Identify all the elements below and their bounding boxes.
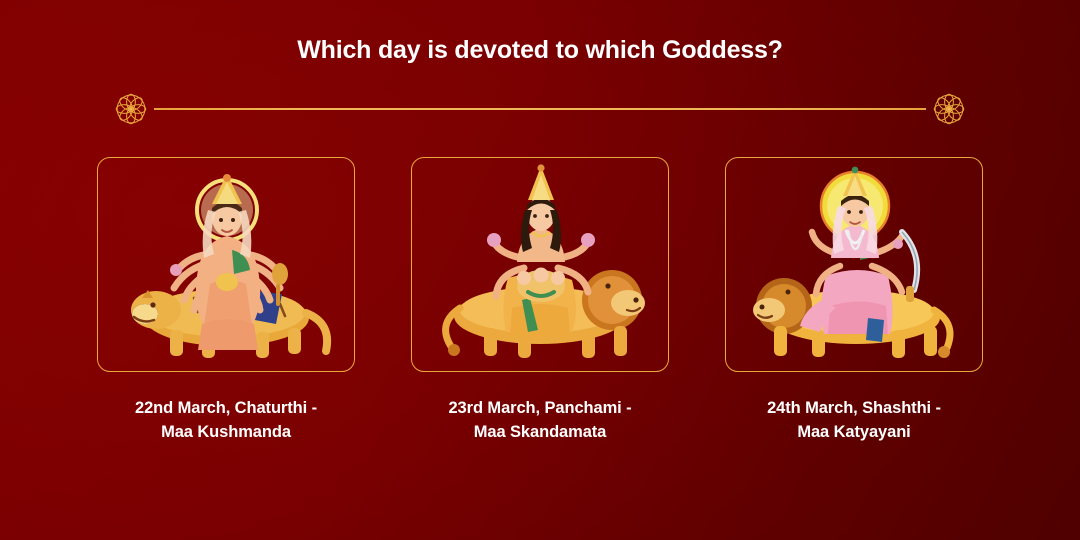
caption-line-2: Maa Skandamata	[474, 423, 607, 441]
goddess-image-frame	[97, 157, 355, 372]
goddess-image-frame	[411, 157, 669, 372]
goddess-card-row: 22nd March, Chaturthi - Maa Kushmanda	[0, 157, 1080, 445]
goddess-card[interactable]: 24th March, Shashthi - Maa Katyayani	[725, 157, 983, 445]
divider-line	[154, 108, 926, 110]
rosette-mandala-icon	[928, 88, 970, 130]
caption-line-1: 23rd March, Panchami -	[448, 399, 631, 417]
goddess-card[interactable]: 22nd March, Chaturthi - Maa Kushmanda	[97, 157, 355, 445]
caption-line-2: Maa Kushmanda	[161, 423, 291, 441]
goddess-caption: 24th March, Shashthi - Maa Katyayani	[725, 396, 983, 445]
goddess-card[interactable]: 23rd March, Panchami - Maa Skandamata	[411, 157, 669, 445]
goddess-caption: 23rd March, Panchami - Maa Skandamata	[411, 396, 669, 445]
caption-line-1: 22nd March, Chaturthi -	[135, 399, 317, 417]
caption-line-1: 24th March, Shashthi -	[767, 399, 941, 417]
goddess-image-frame	[725, 157, 983, 372]
goddess-caption: 22nd March, Chaturthi - Maa Kushmanda	[97, 396, 355, 445]
caption-line-2: Maa Katyayani	[797, 423, 910, 441]
decorative-divider	[110, 88, 970, 130]
poster-root: Which day is devoted to which Goddess?	[0, 0, 1080, 540]
page-title: Which day is devoted to which Goddess?	[0, 36, 1080, 65]
rosette-mandala-icon	[110, 88, 152, 130]
goddess-kushmanda-illustration	[98, 158, 355, 372]
goddess-katyayani-illustration	[726, 158, 983, 372]
goddess-skandamata-illustration	[412, 158, 669, 372]
